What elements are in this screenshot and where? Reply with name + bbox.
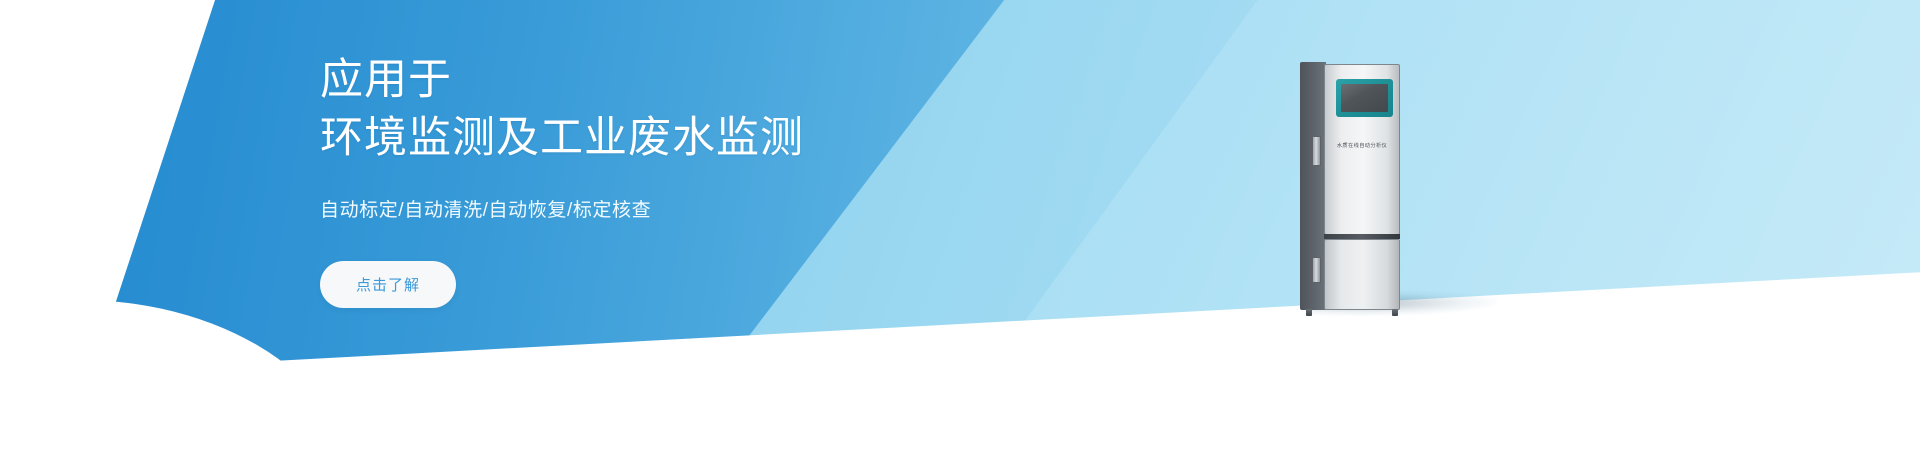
cabinet-label: 水质在线自动分析仪 xyxy=(1326,142,1398,149)
hero-banner: 应用于 环境监测及工业废水监测 自动标定/自动清洗/自动恢复/标定核查 点击了解… xyxy=(0,0,1920,450)
cabinet-lower-door xyxy=(1324,239,1400,310)
cabinet-caster-left xyxy=(1306,309,1312,316)
display-screen xyxy=(1341,84,1388,112)
learn-more-button[interactable]: 点击了解 xyxy=(320,261,456,308)
cabinet-upper-handle xyxy=(1312,136,1321,166)
cabinet-caster-right xyxy=(1392,309,1398,316)
banner-content: 应用于 环境监测及工业废水监测 自动标定/自动清洗/自动恢复/标定核查 点击了解 xyxy=(320,52,1080,308)
headline-line-2: 环境监测及工业废水监测 xyxy=(320,110,1080,168)
display-screen-bezel xyxy=(1336,79,1393,117)
banner-subtitle: 自动标定/自动清洗/自动恢复/标定核查 xyxy=(320,195,1080,222)
product-image-analyzer: 水质在线自动分析仪 xyxy=(1300,62,1440,312)
page-title: 应用于 环境监测及工业废水监测 xyxy=(320,52,1080,167)
headline-line-1: 应用于 xyxy=(320,52,1080,110)
cabinet-lower-handle xyxy=(1312,257,1321,283)
